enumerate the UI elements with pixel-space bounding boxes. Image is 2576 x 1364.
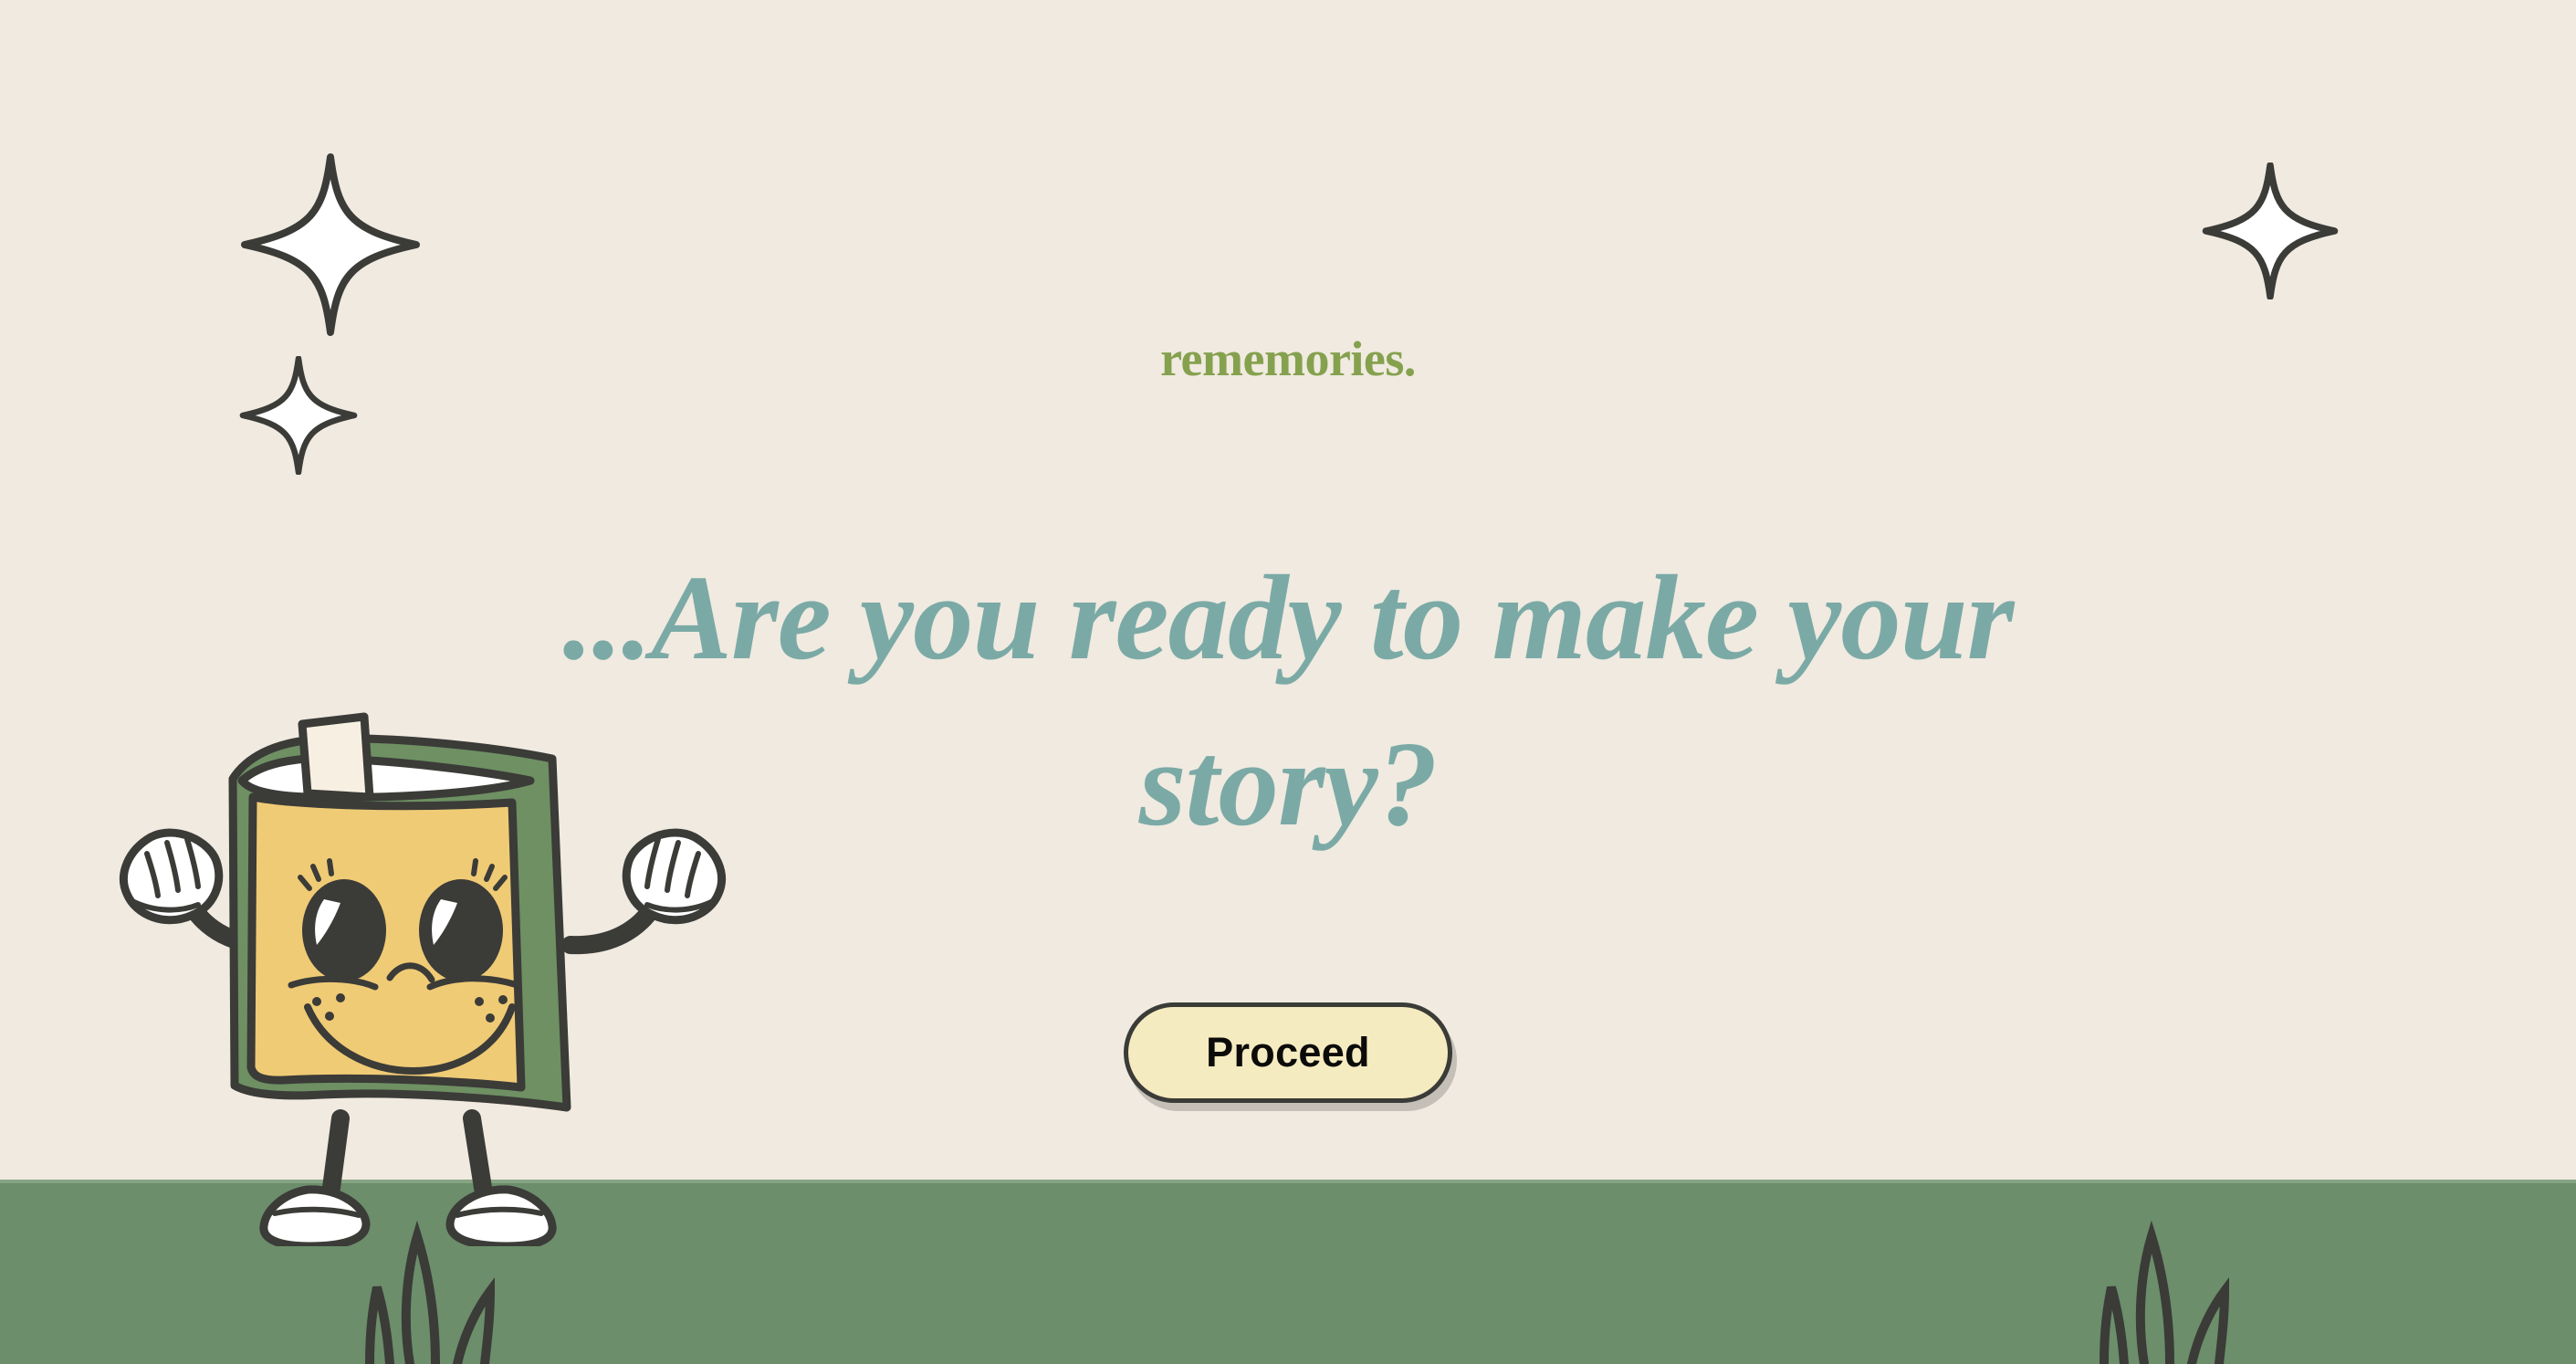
sparkle-star-icon: [2202, 163, 2339, 299]
headline-line-2: story?: [1139, 716, 1438, 851]
proceed-button[interactable]: Proceed: [1124, 1002, 1452, 1103]
headline-line-1: ...Are you ready to make your: [562, 550, 2013, 685]
sparkle-star-icon: [239, 153, 422, 336]
landing-page: rememories. ...Are you ready to make you…: [0, 0, 2576, 1364]
book-mascot-icon: [96, 644, 735, 1246]
grass-tuft-icon: [2049, 1218, 2323, 1364]
brand-logo: rememories.: [0, 331, 2576, 387]
